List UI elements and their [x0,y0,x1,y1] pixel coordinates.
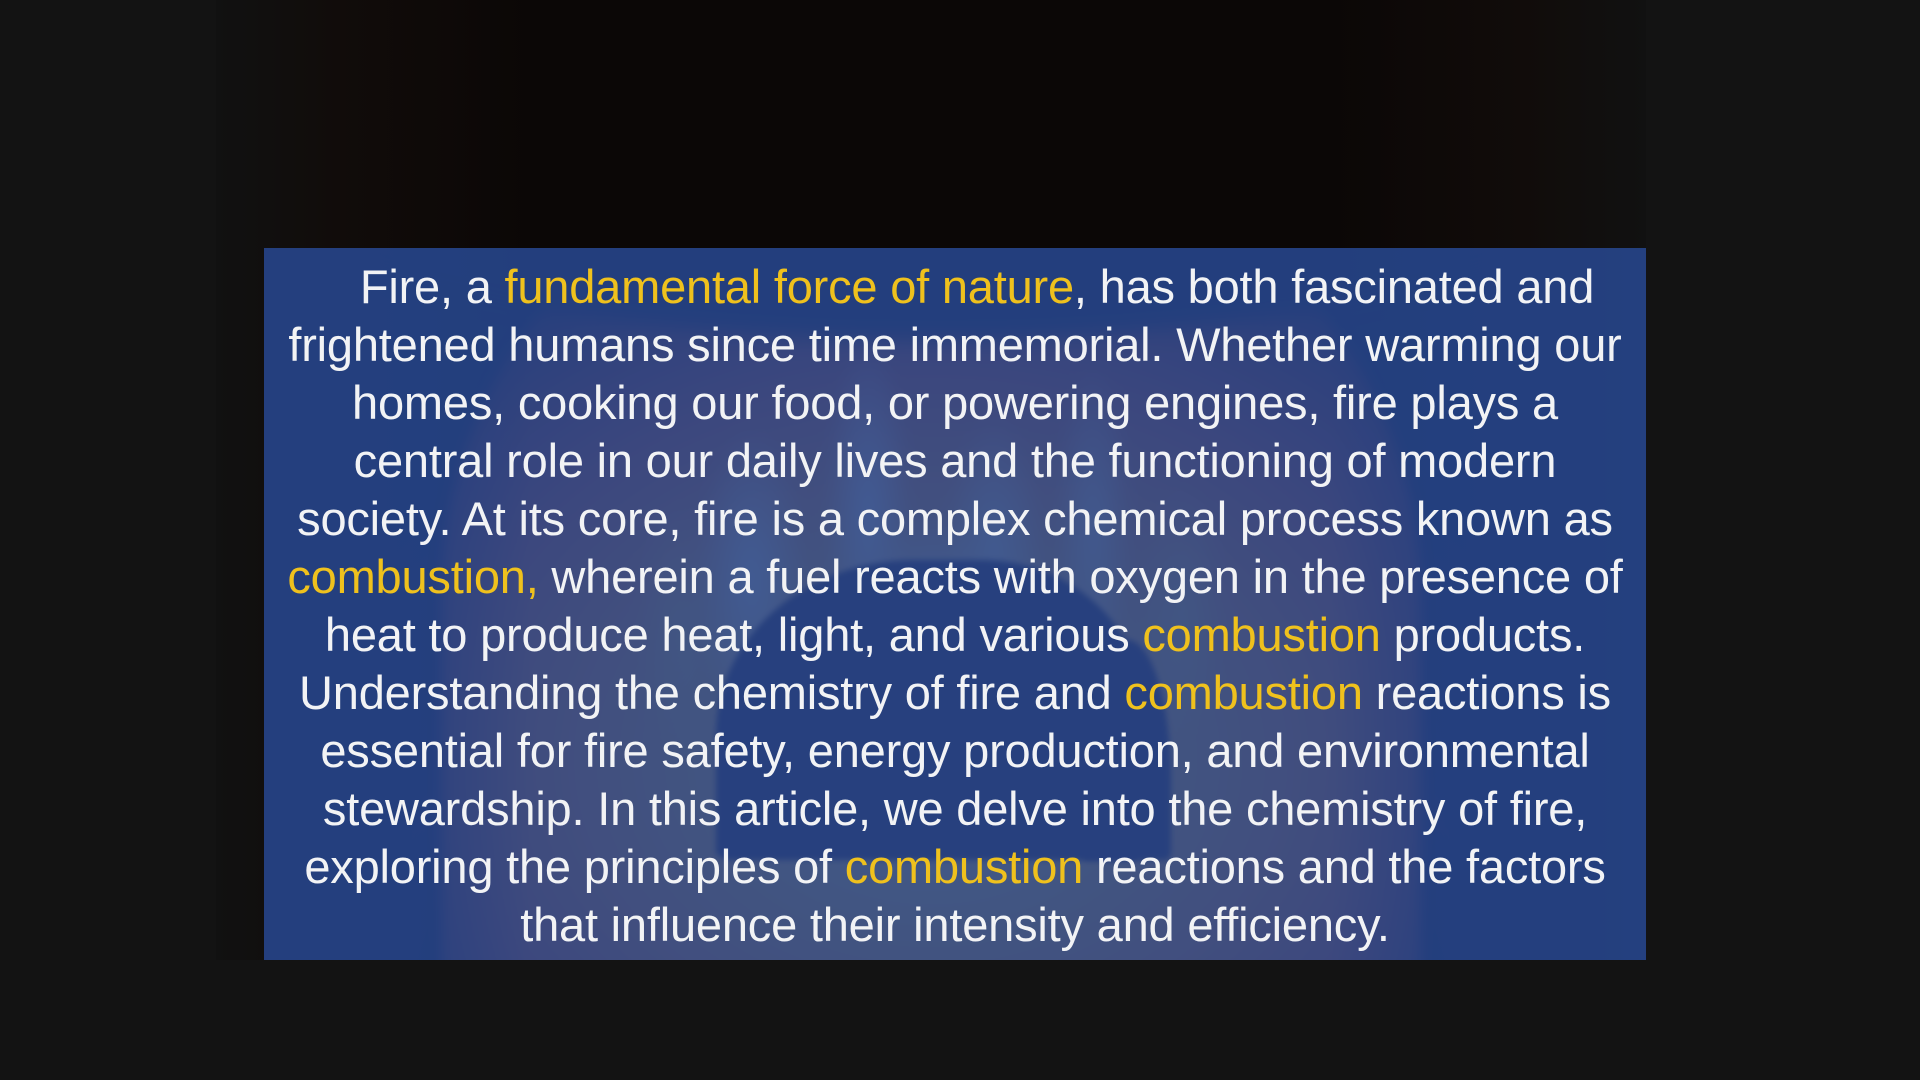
caption-paragraph: Fire, a fundamental force of nature, has… [286,258,1624,954]
caption-highlight-term: combustion [1124,666,1362,719]
caption-text-run: Fire, a [360,260,505,313]
screenshot-root: Fire, a fundamental force of nature, has… [0,0,1920,1080]
caption-highlight-term: combustion, [287,550,538,603]
caption-highlight-term: fundamental force of nature [505,260,1074,313]
caption-highlight-term: combustion [1142,608,1380,661]
caption-panel: Fire, a fundamental force of nature, has… [264,248,1646,960]
caption-highlight-term: combustion [845,840,1083,893]
